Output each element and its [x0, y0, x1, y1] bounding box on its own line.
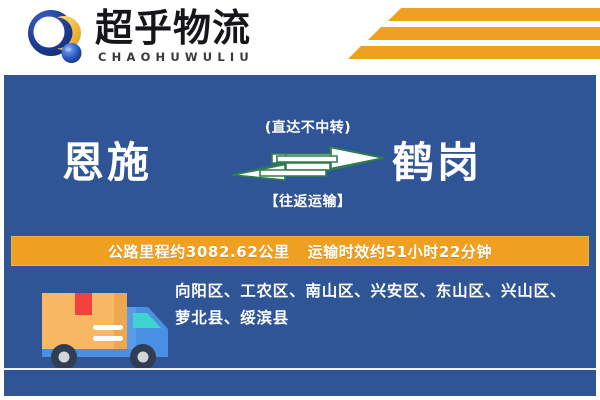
route-arrow-block: (直达不中转) — [230, 109, 386, 227]
coverage-district-list: 向阳区、工农区、南山区、兴安区、东山区、兴山区、 萝北县、绥滨县 — [175, 278, 587, 332]
brand-name-en: CHAOHUWULIU — [98, 50, 254, 64]
destination-city: 鹤岗 — [392, 135, 482, 191]
delivery-truck-icon — [30, 277, 174, 377]
stripe-1 — [388, 8, 600, 21]
bidirectional-arrow-icon — [230, 145, 386, 183]
poster-header: 超乎物流 CHAOHUWULIU — [0, 0, 600, 75]
round-trip-caption: 【往返运输】 — [230, 191, 386, 211]
bottom-divider — [4, 368, 596, 370]
stripe-2 — [368, 27, 600, 40]
origin-city: 恩施 — [62, 135, 152, 191]
main-blue-panel: 恩施 (直达不中转) — [4, 75, 596, 396]
logistics-route-poster: 超乎物流 CHAOHUWULIU 恩施 (直达不中转) — [0, 0, 600, 400]
route-info-bar: 公路里程约3082.62公里 运输时效约51小时22分钟 — [11, 236, 589, 266]
district-line-2: 萝北县、绥滨县 — [175, 305, 587, 332]
orange-diagonal-stripes-icon — [340, 6, 600, 68]
brand-name-cn: 超乎物流 — [95, 7, 251, 49]
duration-label: 运输时效约51小时22分钟 — [308, 241, 493, 262]
circle-crescent-logo-icon — [26, 9, 84, 65]
distance-label: 公路里程约3082.62公里 — [108, 241, 290, 262]
direct-route-caption: (直达不中转) — [230, 117, 386, 137]
route-row: 恩施 (直达不中转) — [4, 109, 596, 229]
district-line-1: 向阳区、工农区、南山区、兴安区、东山区、兴山区、 — [175, 278, 587, 305]
stripe-3 — [348, 46, 600, 59]
